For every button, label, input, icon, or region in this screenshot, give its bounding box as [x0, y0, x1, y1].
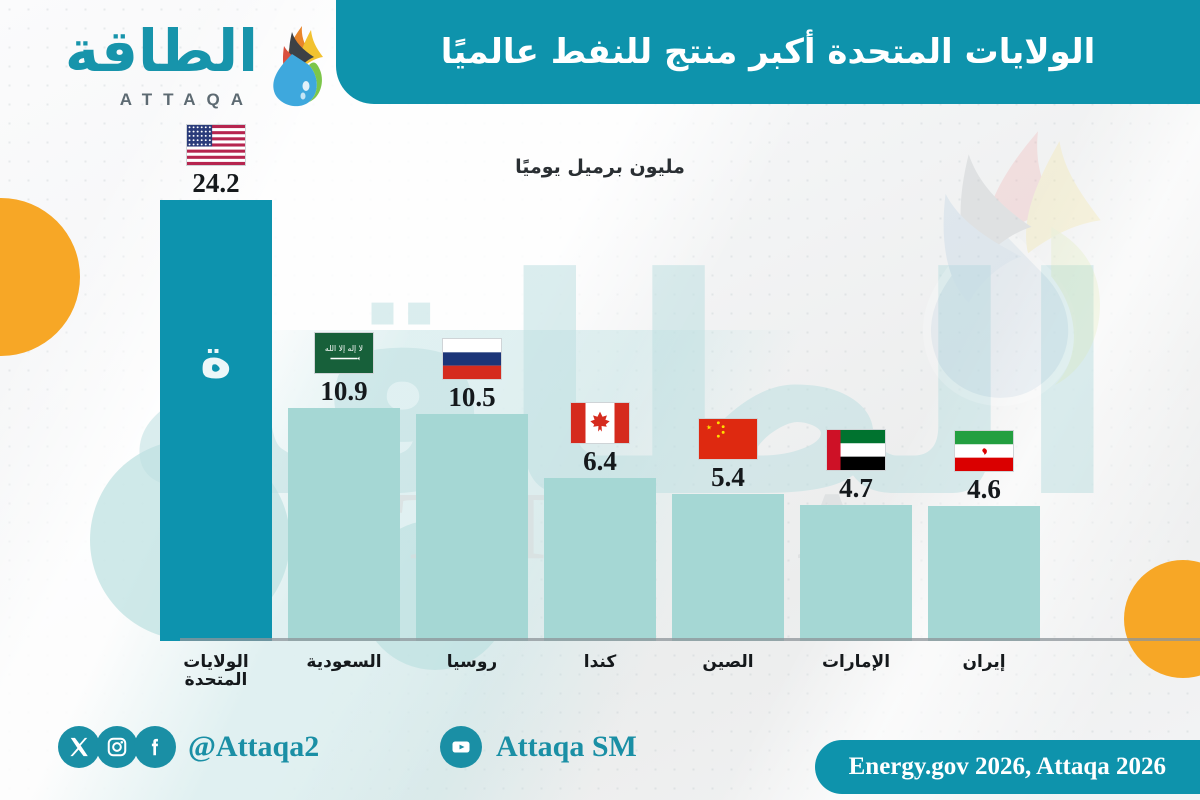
bar-group: 24.2ة: [160, 104, 272, 641]
saudi-arabia-flag: لا إله إلا الله: [314, 332, 374, 374]
page-title: الولايات المتحدة أكبر منتج للنفط عالميًا: [411, 32, 1126, 72]
social-handle[interactable]: @Attaqa2: [188, 730, 319, 764]
category-label: الصين: [672, 653, 784, 690]
united-states-flag: [186, 124, 246, 166]
canada-flag: [570, 402, 630, 444]
bar-value-label: 10.5: [448, 383, 495, 411]
iran-flag: [954, 430, 1014, 472]
chart-axis: [160, 638, 1040, 641]
bar[interactable]: [672, 494, 784, 641]
instagram-glyph: [106, 736, 128, 758]
bar-value-label: 6.4: [583, 447, 617, 475]
bar[interactable]: [288, 408, 400, 641]
source-box: Energy.gov 2026, Attaqa 2026: [815, 740, 1200, 794]
brand-logo: الطاقة ATTAQA: [48, 22, 320, 114]
category-label: إيران: [928, 653, 1040, 690]
russia-flag: [442, 338, 502, 380]
bar-group: 5.4: [672, 104, 784, 641]
youtube-link[interactable]: Attaqa SM: [440, 726, 637, 768]
social-links: @Attaqa2: [58, 726, 319, 768]
bar[interactable]: [416, 414, 528, 641]
axis-baseline: [180, 638, 1200, 641]
footer: @Attaqa2 Attaqa SM Energy.gov 2026, Atta…: [0, 704, 1200, 800]
youtube-icon[interactable]: [440, 726, 482, 768]
facebook-glyph: [144, 736, 166, 758]
category-label: الولايات المتحدة: [160, 653, 272, 690]
bar[interactable]: [800, 505, 912, 641]
bar-value-label: 5.4: [711, 463, 745, 491]
china-flag: [698, 418, 758, 460]
category-labels: الولايات المتحدةالسعوديةروسياكنداالصينال…: [160, 653, 1040, 690]
youtube-glyph: [449, 735, 473, 759]
category-label: الإمارات: [800, 653, 912, 690]
bar[interactable]: [928, 506, 1040, 641]
bar-group: 4.6: [928, 104, 1040, 641]
category-label: روسيا: [416, 653, 528, 690]
instagram-icon[interactable]: [96, 726, 138, 768]
brand-arabic-name: الطاقة: [65, 22, 258, 80]
youtube-label[interactable]: Attaqa SM: [496, 730, 637, 764]
bar-group: 6.4: [544, 104, 656, 641]
title-band: الولايات المتحدة أكبر منتج للنفط عالميًا: [336, 0, 1200, 104]
bar-value-label: 24.2: [192, 169, 239, 197]
category-label: السعودية: [288, 653, 400, 690]
bar-value-label: 4.6: [967, 475, 1001, 503]
source-text: Energy.gov 2026, Attaqa 2026: [849, 753, 1166, 781]
bar-group: 10.5: [416, 104, 528, 641]
facebook-icon[interactable]: [134, 726, 176, 768]
bar-chart: مليون برميل يوميًا 24.2ة لا إله إلا الله…: [0, 104, 1200, 704]
bar-group: 4.7: [800, 104, 912, 641]
droplet-flame-icon: [262, 24, 324, 110]
bar[interactable]: [544, 478, 656, 641]
svg-text:لا إله إلا الله: لا إله إلا الله: [325, 344, 363, 353]
bar-value-label: 10.9: [320, 377, 367, 405]
brand-latin-name: ATTAQA: [120, 90, 254, 110]
infographic-canvas: الطاقة ATTAQA الطاقة ATTAQA الولايات الم…: [0, 0, 1200, 800]
x-glyph: [68, 736, 90, 758]
bar-value-label: 4.7: [839, 474, 873, 502]
x-twitter-icon[interactable]: [58, 726, 100, 768]
united-arab-emirates-flag: [826, 429, 886, 471]
category-label: كندا: [544, 653, 656, 690]
bar-watermark-overlay: ة: [200, 332, 232, 386]
bars-container: 24.2ة لا إله إلا الله 10.9 10.5 6.4: [160, 104, 1040, 641]
bar-group: لا إله إلا الله 10.9: [288, 104, 400, 641]
bar[interactable]: ة: [160, 200, 272, 641]
